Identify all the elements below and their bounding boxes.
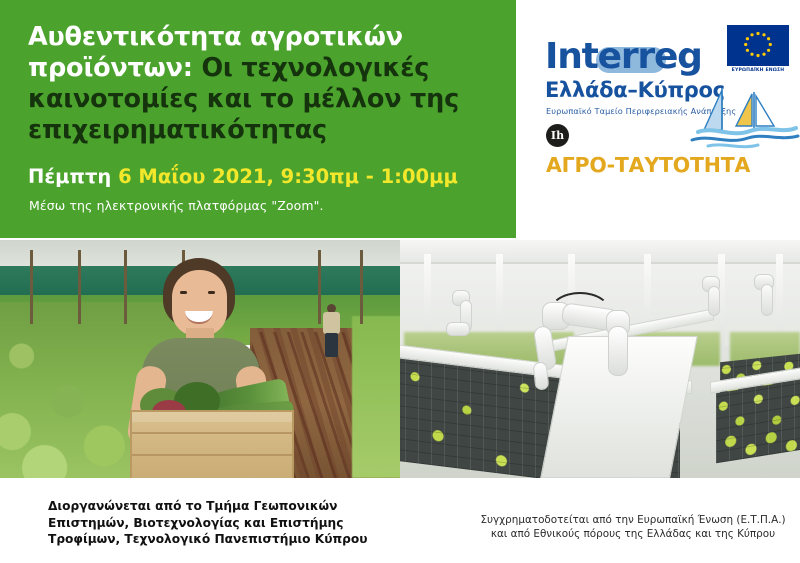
organiser-line-1: Διοργανώνεται από το Τμήμα Γεωπονικών	[48, 498, 378, 515]
event-date: Πέμπτη 6 Μαΐου 2021, 9:30πμ - 1:00μμ	[28, 165, 458, 189]
robot-arm-background-right-2	[752, 274, 788, 314]
robot-arm-main	[540, 284, 650, 394]
robot-forearm	[608, 326, 628, 376]
photo-band	[0, 240, 800, 478]
fence-post	[360, 250, 363, 324]
event-datetime: 6 Μαΐου 2021, 9:30πμ - 1:00μμ	[111, 165, 458, 188]
fence-post	[30, 250, 33, 324]
poster-header: Αυθεντικότητα αγροτικών προϊόντων: Οι τε…	[0, 0, 800, 240]
page-title: Αυθεντικότητα αγροτικών προϊόντων: Οι τε…	[28, 22, 498, 146]
title-line-2: προϊόντων: Οι τεχνολογικές	[28, 53, 498, 84]
funding-line-2: και από Εθνικούς πόρους της Ελλάδας και …	[468, 527, 798, 541]
organiser-credit: Διοργανώνεται από το Τμήμα Γεωπονικών Επ…	[48, 498, 378, 548]
fence-post	[78, 250, 81, 324]
ih-badge-icon: Ih	[546, 124, 569, 147]
organiser-line-3: Τροφίμων, Τεχνολογικό Πανεπιστήμιο Κύπρο…	[48, 531, 378, 548]
logo-area: Interreg Ελλάδα–Κύπρος Ευρωπαϊκό Ταμείο …	[516, 0, 800, 238]
eu-flag-icon	[727, 25, 789, 66]
plant-tray-right	[716, 379, 800, 464]
farmer-face	[172, 270, 227, 336]
farmer-eye-left	[180, 291, 187, 294]
interreg-wordmark-text: Interreg	[545, 36, 702, 77]
greenhouse-ceiling	[400, 240, 800, 264]
robot-gripper-tip	[533, 361, 550, 390]
vegetable-crate	[130, 410, 294, 478]
event-day: Πέμπτη	[28, 165, 111, 188]
title-line-2-white-text: προϊόντων:	[28, 53, 193, 83]
title-line-3-text: καινοτομίες και το μέλλον της	[28, 84, 459, 114]
robot-cable	[548, 292, 612, 326]
robot-arm-background-right-1	[700, 276, 736, 316]
eu-flag-block: ΕΥΡΩΠΑΪΚΗ ΕΝΩΣΗ	[724, 25, 792, 73]
organiser-line-2: Επιστημών, Βιοτεχνολογίας και Επιστήμης	[48, 515, 378, 532]
title-line-1-text: Αυθεντικότητα αγροτικών	[28, 22, 403, 52]
field-green-strip	[352, 316, 400, 478]
funding-credit: Συγχρηματοδοτείται από την Ευρωπαϊκή Ένω…	[468, 513, 798, 541]
title-line-4-text: επιχειρηματικότητας	[28, 115, 327, 145]
photo-farmer-field	[0, 240, 400, 478]
sailboat-icon	[690, 82, 800, 152]
eu-flag-label: ΕΥΡΩΠΑΪΚΗ ΕΝΩΣΗ	[724, 68, 792, 73]
title-line-4: επιχειρηματικότητας	[28, 115, 498, 146]
farmer-eye-right	[208, 291, 215, 294]
funding-line-1: Συγχρηματοδοτείται από την Ευρωπαϊκή Ένω…	[468, 513, 798, 527]
poster-footer: Διοργανώνεται από το Τμήμα Γεωπονικών Επ…	[0, 478, 800, 563]
title-line-1: Αυθεντικότητα αγροτικών	[28, 22, 498, 53]
event-poster: Αυθεντικότητα αγροτικών προϊόντων: Οι τε…	[0, 0, 800, 563]
robot-arm-background-left	[450, 290, 486, 330]
project-name: ΑΓΡΟ-ΤΑΥΤΟΤΗΤΑ	[546, 153, 750, 177]
interreg-logo: Interreg	[545, 38, 702, 76]
title-line-2-dark-text: Οι τεχνολογικές	[193, 53, 429, 83]
eu-stars-icon	[727, 25, 789, 66]
event-platform: Μέσω της ηλεκτρονικής πλατφόρμας "Zoom".	[29, 198, 324, 213]
fence-post	[124, 250, 127, 324]
photo-robotic-greenhouse	[400, 240, 800, 478]
background-worker	[318, 304, 344, 358]
title-line-3: καινοτομίες και το μέλλον της	[28, 84, 498, 115]
